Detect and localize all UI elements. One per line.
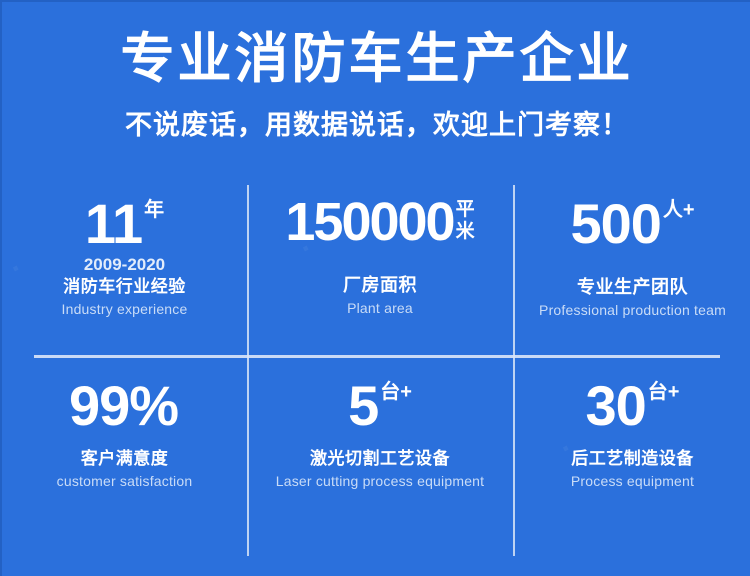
stat-number: 5 <box>348 380 378 432</box>
stat-label-cn: 客户满意度 <box>81 448 169 469</box>
stat-cell-production-team: 500 人+ 专业生产团队 Professional production te… <box>513 182 750 355</box>
stat-unit: 台+ <box>648 380 680 403</box>
stat-label-en: Plant area <box>347 299 413 317</box>
stat-unit: 人+ <box>663 198 695 221</box>
stat-label-cn: 激光切割工艺设备 <box>310 448 450 469</box>
stat-unit: 年 <box>144 198 164 221</box>
stat-cell-laser-cutting-equipment: 5 台+ 激光切割工艺设备 Laser cutting process equi… <box>247 358 513 531</box>
stat-number-line: 500 人+ <box>570 198 694 250</box>
stat-number-line: 5 台+ <box>348 380 412 432</box>
stats-grid: 11 年 2009-2020 消防车行业经验 Industry experien… <box>2 182 750 558</box>
stat-number: 99% <box>69 380 178 432</box>
stats-row-2: 99% 客户满意度 customer satisfaction 5 台+ 激光切… <box>2 358 750 531</box>
stat-cell-plant-area: 150000 平米 厂房面积 Plant area <box>247 182 513 355</box>
stat-number-line: 99% <box>69 380 180 432</box>
stat-cell-process-equipment: 30 台+ 后工艺制造设备 Process equipment <box>513 358 750 531</box>
stat-label-en: Process equipment <box>571 472 694 490</box>
stat-cell-customer-satisfaction: 99% 客户满意度 customer satisfaction <box>2 358 247 531</box>
stat-unit: 台+ <box>380 380 412 403</box>
stat-number: 500 <box>570 198 660 250</box>
stat-number-line: 11 年 <box>85 198 164 250</box>
stat-label-cn: 后工艺制造设备 <box>571 448 694 469</box>
stat-number-line: 30 台+ <box>586 380 680 432</box>
banner-header: 专业消防车生产企业 不说废话，用数据说话，欢迎上门考察！ <box>2 2 750 143</box>
stats-banner: 专业消防车生产企业 不说废话，用数据说话，欢迎上门考察！ 11 年 2009-2… <box>0 0 750 576</box>
stat-number: 150000 <box>285 198 453 248</box>
stats-row-1: 11 年 2009-2020 消防车行业经验 Industry experien… <box>2 182 750 355</box>
stat-number: 30 <box>586 380 646 432</box>
stat-label-cn: 厂房面积 <box>343 274 417 297</box>
stat-label-en: Professional production team <box>539 301 726 319</box>
stat-label-en: Industry experience <box>62 300 188 318</box>
stat-number: 11 <box>85 198 142 250</box>
stat-unit: 平米 <box>456 198 475 243</box>
stat-label-en: customer satisfaction <box>57 472 193 490</box>
stat-label-cn: 消防车行业经验 <box>63 276 186 297</box>
stat-number-line: 150000 平米 <box>285 198 474 248</box>
stat-label-cn: 专业生产团队 <box>577 276 688 299</box>
page-title: 专业消防车生产企业 <box>2 26 750 94</box>
stat-label-en: Laser cutting process equipment <box>276 472 485 490</box>
stat-sub-number: 2009-2020 <box>84 256 165 275</box>
stat-cell-industry-experience: 11 年 2009-2020 消防车行业经验 Industry experien… <box>2 182 247 355</box>
page-subtitle: 不说废话，用数据说话，欢迎上门考察！ <box>2 108 750 143</box>
